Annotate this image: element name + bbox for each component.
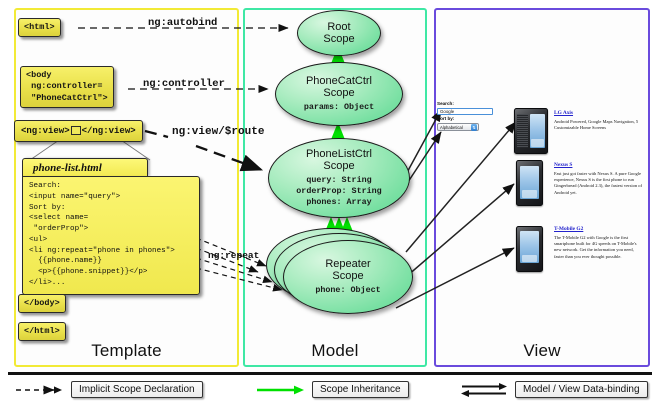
label-ng-autobind: ng:autobind [148,17,217,29]
scope-phonelistctrl-props: query: String orderProp: String phones: … [296,175,381,208]
scope-repeater: Repeater Scope phone: Object [283,240,413,314]
ng-view-placeholder-icon [71,126,81,135]
search-label: Search: [437,101,497,108]
tag-body-close: </body> [18,294,66,313]
scope-phonecatctrl: PhoneCatCtrl Scope params: Object [275,62,403,126]
scope-root-name: Root Scope [323,21,354,46]
phone-description-2: The T-Mobile G2 with Google is the first… [554,235,642,261]
callout-code: Search: <input name="query"> Sort by: <s… [22,176,200,295]
diagram-canvas: Template Model View [0,0,660,405]
scope-repeater-props: phone: Object [315,285,380,296]
label-ng-controller: ng:controller [143,78,225,90]
callout-title: phone-list.html [22,158,148,176]
phone-list-callout: phone-list.html Search: <input name="que… [22,158,200,295]
phone-thumbnail-icon [516,160,543,206]
scope-phonecatctrl-name: PhoneCatCtrl Scope [306,75,372,100]
search-input[interactable]: Google [437,108,493,115]
phone-name-link-0[interactable]: LG Axis [554,110,642,116]
scope-phonelistctrl-name: PhoneListCtrl Scope [306,148,372,173]
connector-data-binding [396,110,516,308]
tag-ng-view: <ng:view></ng:view> [14,120,143,142]
search-widget: Search: Google Sort by: Alphabetical ⇅ [437,101,497,131]
sort-select-value: Alphabetical [440,125,463,130]
scope-repeater-name: Repeater Scope [325,258,370,283]
phone-info-1: Nexus S Fast just got faster with Nexus … [554,162,642,196]
phone-thumbnail-icon [514,108,548,154]
tag-html-close: </html> [18,322,66,341]
scope-phonecatctrl-props: params: Object [304,102,374,113]
tag-ng-view-open: <ng:view> [21,126,70,136]
tag-ng-view-close: </ng:view> [82,126,136,136]
label-ng-view-route: ng:view/$route [172,126,264,138]
phone-name-link-1[interactable]: Nexus S [554,162,642,168]
scope-phonelistctrl: PhoneListCtrl Scope query: String orderP… [268,138,410,218]
scope-root: Root Scope [297,10,381,56]
phone-description-1: Fast just got faster with Nexus S. A pur… [554,171,642,197]
label-ng-repeat: ng:repeat [208,250,259,261]
phone-name-link-2[interactable]: T-Mobile G2 [554,226,642,232]
chevron-down-icon: ⇅ [471,124,477,131]
sort-label: Sort by: [437,116,497,123]
sort-select[interactable]: Alphabetical ⇅ [437,123,479,131]
tag-html-open: <html> [18,18,61,37]
phone-info-0: LG Axis Android Powered, Google Maps Nav… [554,110,642,131]
tag-body-open: <body ng:controller= "PhoneCatCtrl"> [20,66,114,108]
phone-description-0: Android Powered, Google Maps Navigation,… [554,119,642,132]
phone-info-2: T-Mobile G2 The T-Mobile G2 with Google … [554,226,642,260]
phone-thumbnail-icon [516,226,543,272]
